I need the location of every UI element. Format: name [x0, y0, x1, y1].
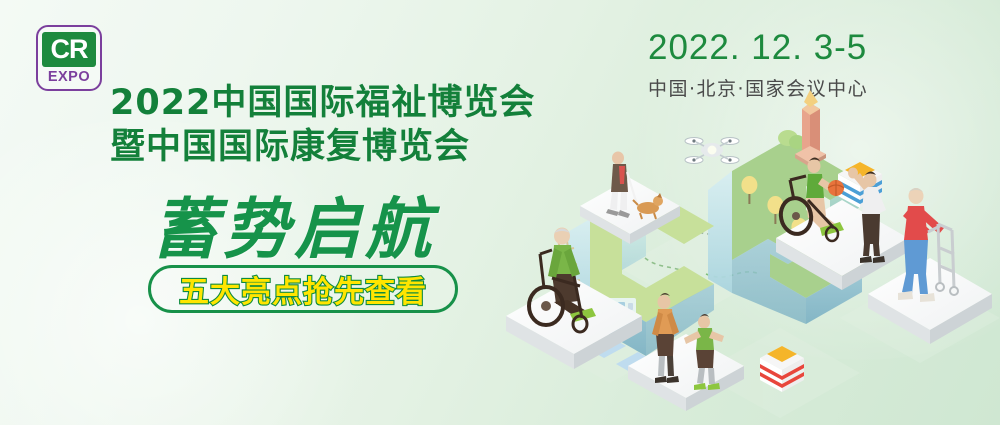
event-banner: CR EXPO 2022中国国际福祉博览会 暨中国国际康复博览会 蓄势启航 五大…: [0, 0, 1000, 425]
highlights-cta-button[interactable]: 五大亮点抢先查看: [148, 265, 458, 313]
drone: [685, 138, 739, 164]
logo-sub-text: EXPO: [48, 70, 90, 85]
logo-mark-box: CR: [42, 32, 96, 67]
event-date: 2022. 12. 3-5: [648, 28, 867, 68]
cr-expo-logo[interactable]: CR EXPO: [36, 25, 102, 91]
isometric-illustration: [470, 88, 1000, 425]
logo-mark-text: CR: [51, 36, 88, 63]
highlights-cta-label: 五大亮点抢先查看: [179, 267, 427, 311]
slogan-text: 蓄势启航: [152, 176, 436, 272]
monument-tower: [795, 90, 826, 167]
headline-line-2: 暨中国国际康复博览会: [110, 118, 470, 169]
